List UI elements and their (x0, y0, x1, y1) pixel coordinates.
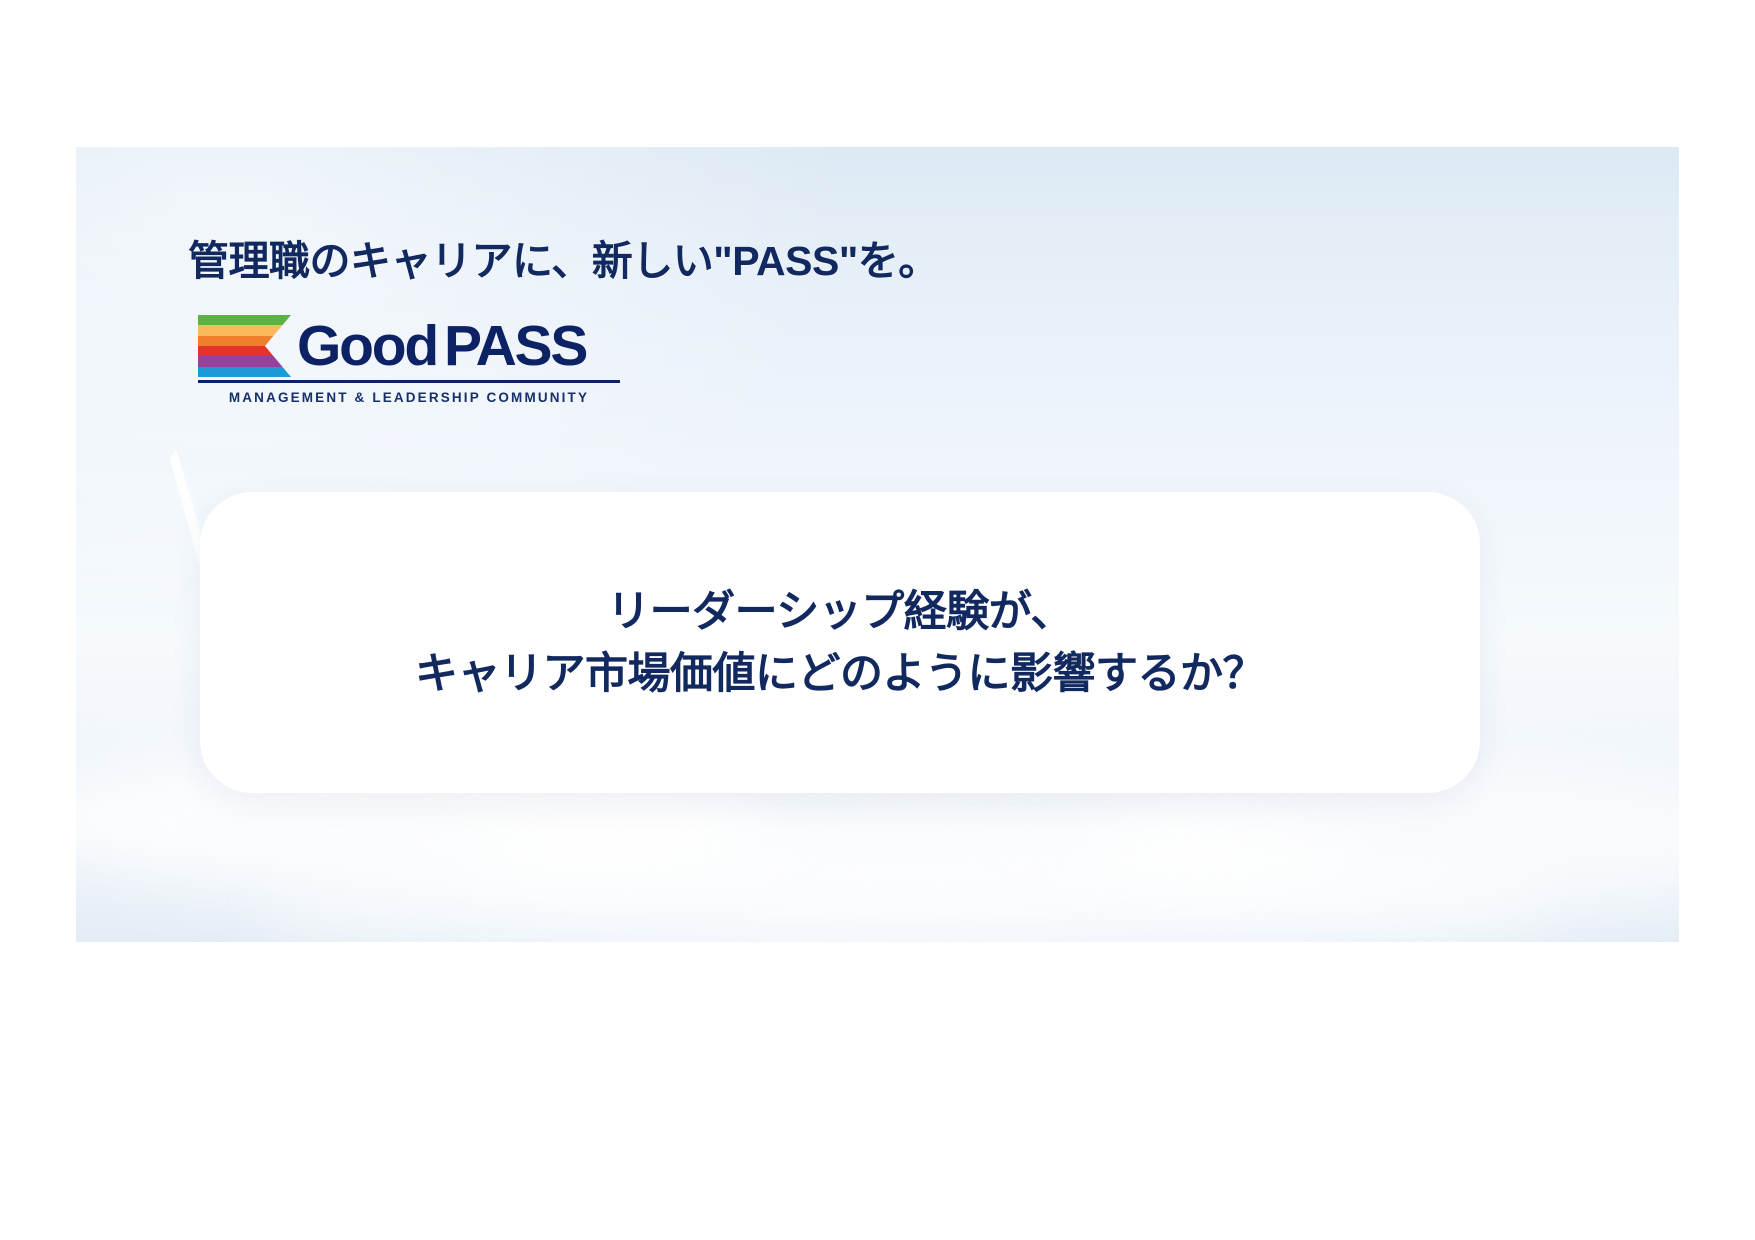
cloud-band (456, 795, 1356, 925)
question-line-1: リーダーシップ経験が、 (607, 581, 1073, 643)
logo-divider (198, 380, 620, 383)
logo-word-pass: PASS (444, 314, 586, 378)
question-line-2: キャリア市場価値にどのように影響するか？ (415, 643, 1265, 705)
colorbar-mark-icon (198, 315, 291, 377)
logo-row: GoodPASS (198, 315, 620, 377)
logo-wordmark: GoodPASS (297, 317, 586, 375)
goodpass-logo: GoodPASS MANAGEMENT & LEADERSHIP COMMUNI… (198, 315, 620, 405)
slide-background-photo: 管理職のキャリアに、新しい"PASS"を。 GoodPASS MANAGEMEN… (76, 147, 1679, 942)
cloud-band (256, 847, 1556, 942)
slide-root: 管理職のキャリアに、新しい"PASS"を。 GoodPASS MANAGEMEN… (0, 0, 1755, 1240)
question-card: リーダーシップ経験が、 キャリア市場価値にどのように影響するか？ (200, 492, 1480, 793)
page-title: 管理職のキャリアに、新しい"PASS"を。 (188, 227, 939, 287)
logo-word-good: Good (297, 314, 437, 378)
logo-tagline: MANAGEMENT & LEADERSHIP COMMUNITY (198, 390, 620, 405)
